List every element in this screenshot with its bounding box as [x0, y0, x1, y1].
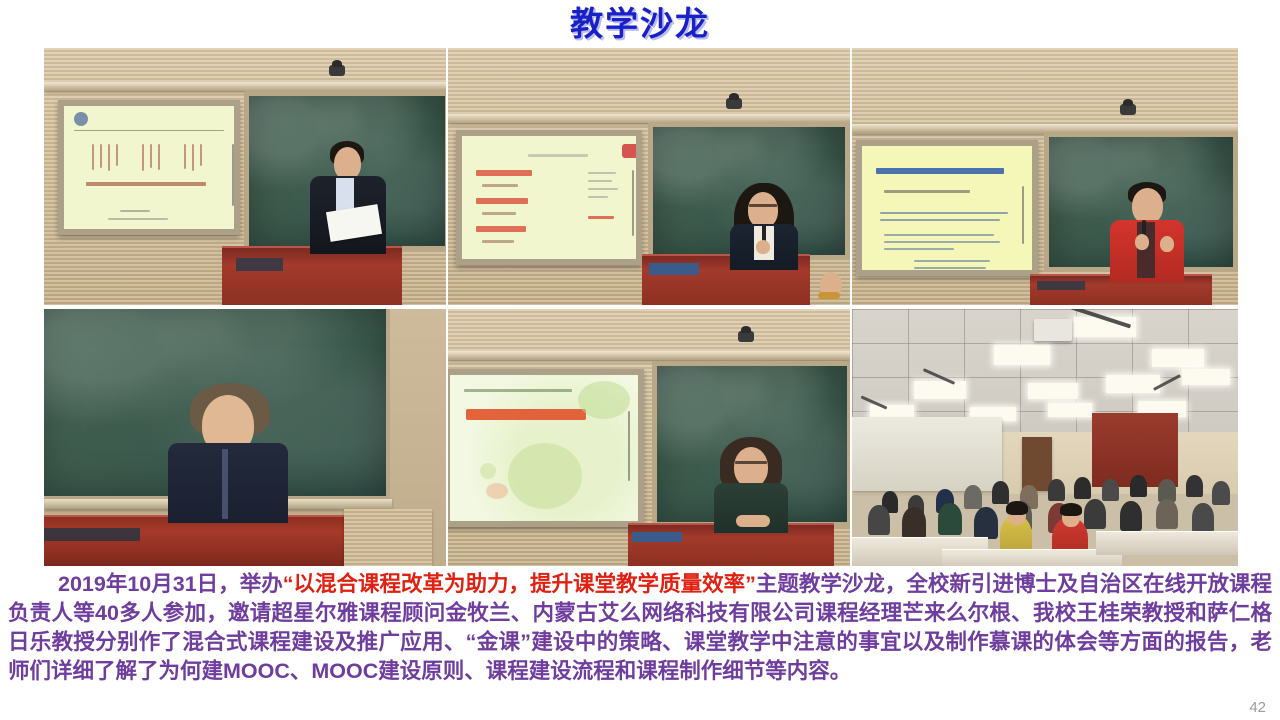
- wall-rail: [448, 351, 850, 360]
- podium: [222, 246, 402, 305]
- ceiling-camera-icon: [1120, 104, 1136, 115]
- caption-highlight: “以混合课程改革为助力，提升课堂教学质量效率”: [283, 572, 756, 596]
- photo-6[interactable]: [852, 309, 1238, 566]
- ceiling-projector: [1034, 319, 1072, 341]
- page-number: 42: [1249, 699, 1266, 716]
- projection-screen: [456, 130, 642, 265]
- desk-row: [942, 549, 1122, 566]
- ceiling-camera-icon: [726, 98, 742, 109]
- slide-caption: 2019年10月31日，举办“以混合课程改革为助力，提升课堂教学质量效率”主题教…: [8, 570, 1272, 686]
- page-title: 教学沙龙: [0, 4, 1280, 44]
- caption-part-1: 2019年10月31日，举办: [58, 572, 283, 596]
- projection-screen: [856, 140, 1038, 276]
- photo-3[interactable]: [852, 48, 1238, 305]
- projection-screen: [448, 369, 644, 527]
- projection-screen: [852, 417, 1002, 491]
- wall-rail: [44, 82, 446, 91]
- photo-grid: [44, 48, 1238, 566]
- photo-4[interactable]: [44, 309, 446, 566]
- desk-row: [1096, 531, 1238, 555]
- door: [1022, 437, 1052, 491]
- wall-panel: [344, 509, 432, 566]
- ceiling-camera-icon: [329, 65, 345, 76]
- photo-5[interactable]: [448, 309, 850, 566]
- photo-1[interactable]: [44, 48, 446, 305]
- ceiling-camera-icon: [738, 331, 754, 342]
- photo-2[interactable]: [448, 48, 850, 305]
- projection-screen: [58, 100, 240, 235]
